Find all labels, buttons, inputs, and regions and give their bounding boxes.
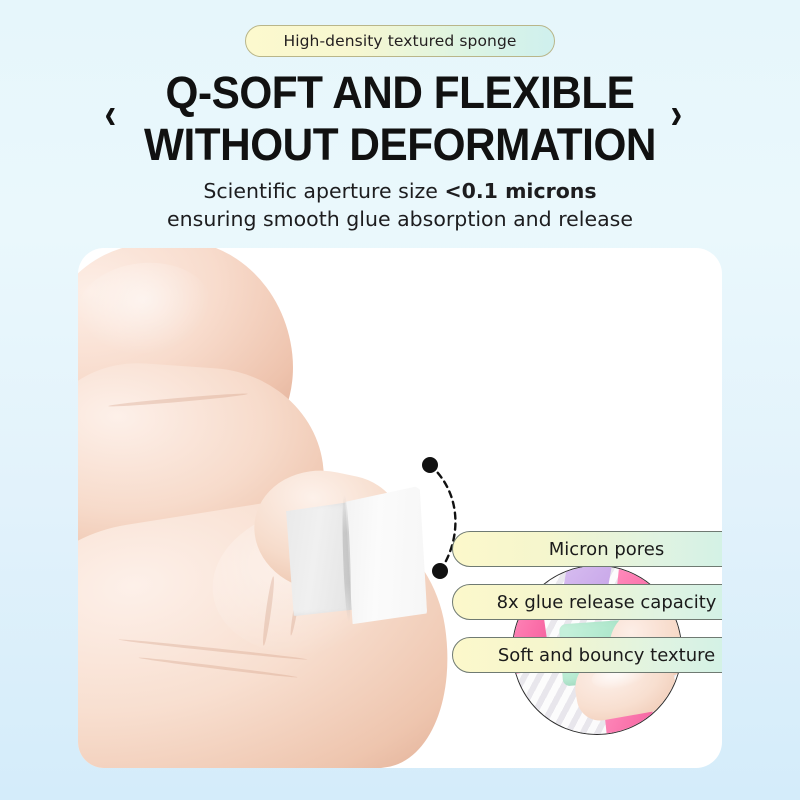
- subtitle-emphasis: <0.1 microns: [444, 179, 596, 203]
- feature-list: Micron pores 8x glue release capacity So…: [452, 531, 722, 690]
- sponge-right-face: [345, 486, 428, 625]
- subtitle-line-1: Scientific aperture size <0.1 microns: [0, 178, 800, 206]
- feature-pill-glue-release: 8x glue release capacity: [452, 584, 722, 620]
- feature-label: Micron pores: [549, 539, 664, 560]
- headline-line-2: WITHOUT DEFORMATION: [24, 122, 776, 167]
- feature-label: Soft and bouncy texture: [498, 645, 715, 666]
- photo-card: Micron pores 8x glue release capacity So…: [78, 248, 722, 768]
- subtitle-prefix: Scientific aperture size: [203, 179, 444, 203]
- feature-pill-soft-bouncy: Soft and bouncy texture: [452, 637, 722, 673]
- curve-endpoint-top: [422, 457, 438, 473]
- eyebrow-label: High-density textured sponge: [283, 32, 516, 50]
- product-feature-poster: High-density textured sponge ‹ › Q-SOFT …: [0, 0, 800, 800]
- subtitle: Scientific aperture size <0.1 microns en…: [0, 178, 800, 234]
- white-sponge: [283, 486, 427, 621]
- subtitle-line-2: ensuring smooth glue absorption and rele…: [0, 206, 800, 234]
- hand-photo: [78, 248, 722, 768]
- curve-endpoint-bottom: [432, 563, 448, 579]
- eyebrow-badge: High-density textured sponge: [245, 25, 555, 57]
- headline-line-1: Q-SOFT AND FLEXIBLE: [24, 70, 776, 115]
- feature-pill-micron-pores: Micron pores: [452, 531, 722, 567]
- page-title: Q-SOFT AND FLEXIBLE WITHOUT DEFORMATION: [0, 70, 800, 167]
- feature-label: 8x glue release capacity: [497, 592, 717, 613]
